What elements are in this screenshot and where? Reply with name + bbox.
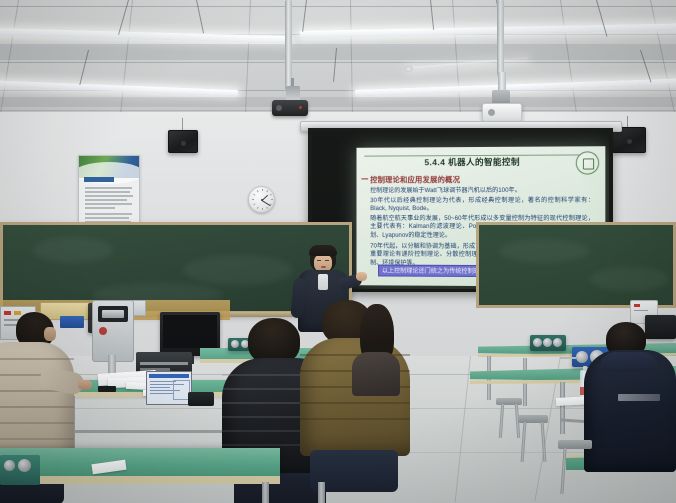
chalkboard-right — [476, 222, 676, 308]
ceiling-support-pole — [497, 0, 504, 76]
fluorescent-tube-light — [0, 28, 290, 43]
projector-mount — [286, 86, 300, 101]
classroom-photo-scene: 5.4.4 机器人的智能控制 控制理论和应用发展的概况 控制理论的发展始于Wat… — [0, 0, 676, 503]
teal-gearbox-assembly — [530, 335, 566, 351]
student-navy-hoodie — [584, 322, 676, 472]
smoke-detector — [404, 66, 413, 72]
bench-leg — [560, 382, 565, 434]
fluorescent-tube-light — [0, 80, 238, 96]
bench-edge — [0, 476, 280, 484]
hand — [356, 272, 367, 281]
fluorescent-tube-light — [355, 78, 676, 96]
ceiling-projector-white — [482, 103, 522, 122]
wall-speaker — [168, 130, 198, 153]
university-seal-logo — [576, 151, 599, 174]
torso — [0, 342, 74, 462]
slide-subtitle-dash — [361, 178, 368, 179]
slide-title: 5.4.4 机器人的智能控制 — [378, 156, 568, 169]
teal-gearbox-assembly — [0, 455, 40, 485]
hand — [78, 380, 92, 390]
wall-clock — [248, 186, 275, 213]
face — [44, 327, 56, 341]
slide-subtitle: 控制理论和应用发展的概况 — [370, 174, 460, 185]
torso — [352, 352, 400, 396]
student-long-hair — [352, 304, 400, 396]
suspended-ceiling — [0, 0, 676, 118]
mobile-phone — [98, 386, 116, 392]
hoodie-print — [618, 394, 660, 401]
laptop-bag — [188, 392, 214, 406]
measurement-instrument — [92, 300, 134, 362]
laptop-computer — [146, 371, 192, 405]
fluorescent-tube-light — [300, 23, 676, 37]
projector-mount — [492, 90, 510, 104]
lab-bench — [0, 448, 280, 478]
gearbox-shaft — [560, 357, 576, 359]
bench-rail — [70, 430, 233, 433]
slide-paragraph: 控制理论的发展始于Watt飞球调节器汽机以后的100年。 — [370, 187, 594, 196]
slide-paragraph: 30年代以后经典控制理论为代表，形成经典控制理论，著名的控制科学家有：Black… — [370, 197, 594, 214]
bench-leg — [262, 482, 269, 503]
ceiling-support-pole — [285, 0, 292, 90]
hair — [309, 245, 337, 256]
hood — [600, 352, 658, 372]
projector-mount-pole — [498, 72, 506, 91]
bench-leg — [318, 482, 325, 503]
stool — [496, 398, 522, 405]
collar-shirt — [318, 274, 328, 290]
ceiling-projector-dark — [272, 100, 308, 116]
